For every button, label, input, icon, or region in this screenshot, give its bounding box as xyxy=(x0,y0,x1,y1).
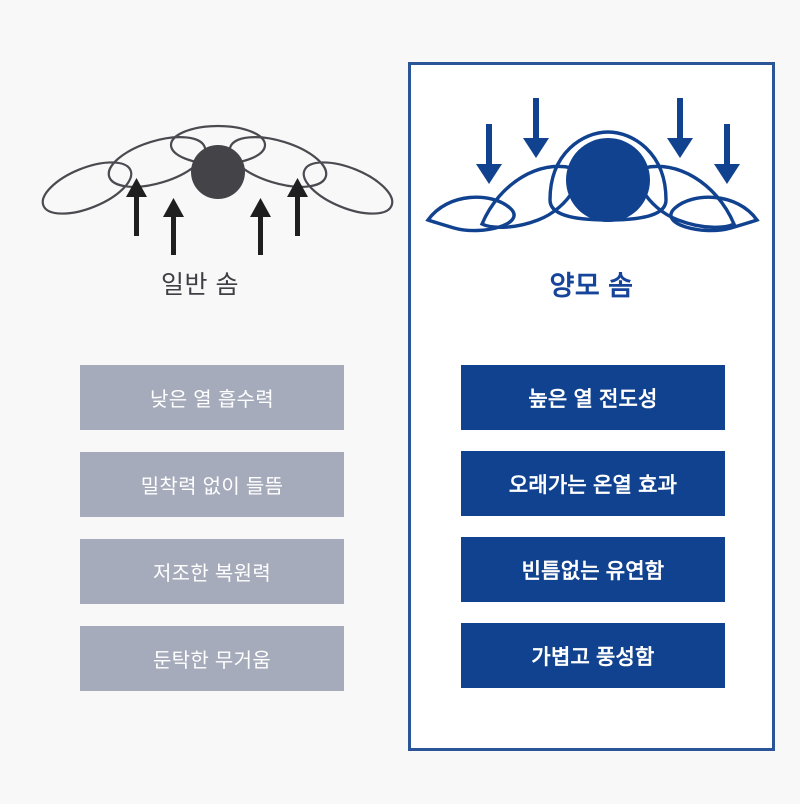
arrow-up-3 xyxy=(250,198,271,255)
arrow-down-1 xyxy=(476,124,502,184)
wool-fill-bar-list: 높은 열 전도성 오래가는 온열 효과 빈틈없는 유연함 가볍고 풍성함 xyxy=(461,365,725,709)
wool-fiber-far-right xyxy=(671,197,757,230)
standard-fill-bar-4-label: 둔탁한 무거움 xyxy=(153,644,271,673)
wool-fiber-far-left xyxy=(428,197,514,230)
standard-fill-caption: 일반 솜 xyxy=(0,268,400,302)
arrow-up-2 xyxy=(163,198,184,255)
standard-fill-bar-1-label: 낮은 열 흡수력 xyxy=(150,383,274,412)
fiber-ellipse-far-left xyxy=(36,152,138,224)
standard-fill-bar-3: 저조한 복원력 xyxy=(80,539,344,604)
arrow-down-4 xyxy=(714,124,740,184)
arrow-down-2 xyxy=(523,98,549,158)
panel-standard-fill: 일반 솜 낮은 열 흡수력 밀착력 없이 들뜸 저조한 복원력 둔탁한 무거움 xyxy=(0,0,400,804)
fiber-ellipse-far-right xyxy=(297,152,399,224)
wool-fill-illustration xyxy=(420,96,765,236)
wool-fill-bar-4: 가볍고 풍성함 xyxy=(461,623,725,688)
wool-fill-caption: 양모 솜 xyxy=(408,268,775,304)
wool-fill-bar-2-label: 오래가는 온열 효과 xyxy=(509,469,677,499)
wool-fill-bar-1: 높은 열 전도성 xyxy=(461,365,725,430)
wool-fiber-left xyxy=(482,166,578,227)
standard-fill-bar-2-label: 밀착력 없이 들뜸 xyxy=(141,470,284,499)
arrow-down-3 xyxy=(667,98,693,158)
standard-fill-bar-2: 밀착력 없이 들뜸 xyxy=(80,452,344,517)
infographic-root: 일반 솜 낮은 열 흡수력 밀착력 없이 들뜸 저조한 복원력 둔탁한 무거움 xyxy=(0,0,800,804)
wool-fill-bar-3: 빈틈없는 유연함 xyxy=(461,537,725,602)
heat-core-circle xyxy=(566,138,650,222)
standard-fill-illustration xyxy=(30,100,390,250)
standard-fill-bar-list: 낮은 열 흡수력 밀착력 없이 들뜸 저조한 복원력 둔탁한 무거움 xyxy=(80,365,344,713)
standard-fill-bar-4: 둔탁한 무거움 xyxy=(80,626,344,691)
heat-core-circle xyxy=(191,145,245,199)
standard-fill-bar-1: 낮은 열 흡수력 xyxy=(80,365,344,430)
wool-fill-bar-2: 오래가는 온열 효과 xyxy=(461,451,725,516)
standard-fill-bar-3-label: 저조한 복원력 xyxy=(153,557,271,586)
wool-fill-bar-3-label: 빈틈없는 유연함 xyxy=(522,555,665,585)
wool-fill-bar-1-label: 높은 열 전도성 xyxy=(528,383,657,413)
wool-fill-bar-4-label: 가볍고 풍성함 xyxy=(531,641,654,671)
